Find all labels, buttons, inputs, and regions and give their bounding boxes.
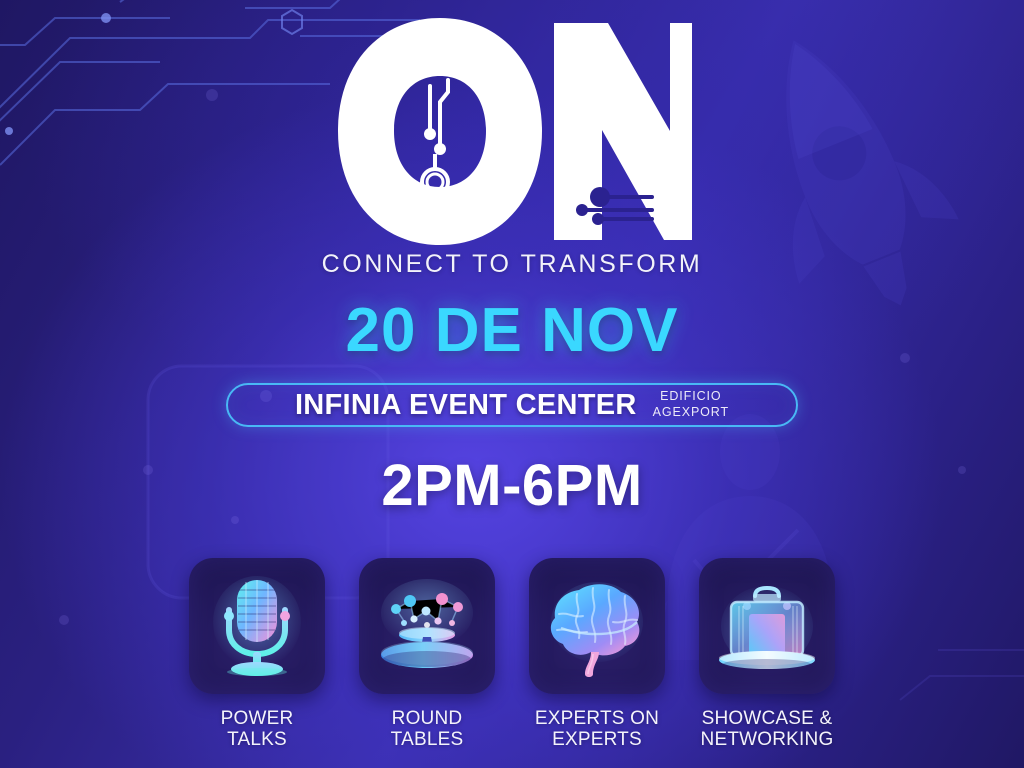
feature-showcase-networking[interactable]: SHOWCASE & NETWORKING xyxy=(699,558,835,751)
logo-tagline: CONNECT TO TRANSFORM xyxy=(0,250,1024,279)
venue-pill: INFINIA EVENT CENTER EDIFICIO AGEXPORT xyxy=(226,383,798,427)
venue-row: INFINIA EVENT CENTER EDIFICIO AGEXPORT xyxy=(0,383,1024,427)
event-poster: CONNECT TO TRANSFORM 20 DE NOV INFINIA E… xyxy=(0,0,1024,768)
feature-list: POWER TALKS xyxy=(0,558,1024,751)
feature-card xyxy=(699,558,835,694)
event-time: 2PM-6PM xyxy=(0,452,1024,519)
feature-label: ROUND TABLES xyxy=(391,708,464,751)
venue-building-line2: AGEXPORT xyxy=(653,405,729,419)
feature-label: POWER TALKS xyxy=(221,708,294,751)
feature-round-tables[interactable]: ROUND TABLES xyxy=(359,558,495,751)
event-date: 20 DE NOV xyxy=(0,295,1024,366)
feature-card xyxy=(189,558,325,694)
feature-label: EXPERTS ON EXPERTS xyxy=(535,708,659,751)
briefcase-icon xyxy=(709,568,825,684)
brain-icon xyxy=(541,570,653,682)
on-logo-icon xyxy=(332,14,692,249)
venue-building-line1: EDIFICIO xyxy=(660,389,721,403)
microphone-icon xyxy=(201,570,313,682)
logo-block xyxy=(0,14,1024,249)
venue-name: INFINIA EVENT CENTER xyxy=(295,389,637,422)
round-table-icon xyxy=(368,567,486,685)
feature-label: SHOWCASE & NETWORKING xyxy=(701,708,834,751)
feature-experts-on-experts[interactable]: EXPERTS ON EXPERTS xyxy=(529,558,665,751)
feature-card xyxy=(529,558,665,694)
feature-power-talks[interactable]: POWER TALKS xyxy=(189,558,325,751)
feature-card xyxy=(359,558,495,694)
venue-building: EDIFICIO AGEXPORT xyxy=(653,389,729,420)
